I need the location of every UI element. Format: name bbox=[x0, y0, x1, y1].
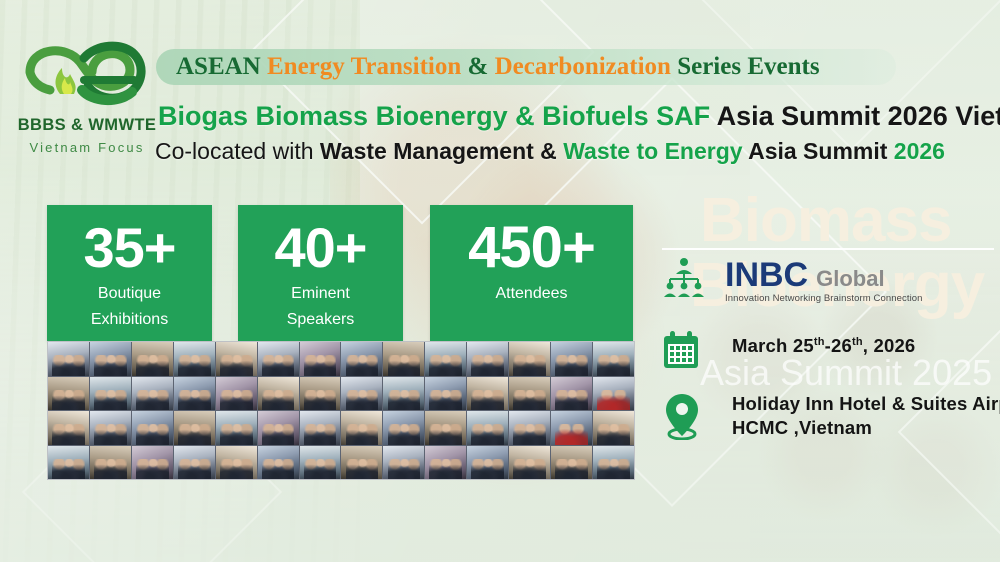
stat-card-exhibitions: 35+ Boutique Exhibitions bbox=[47, 205, 212, 341]
collage-photo bbox=[593, 446, 634, 480]
collage-photo bbox=[383, 411, 424, 445]
subtitle-year: 2026 bbox=[894, 138, 945, 164]
event-venue-row: Holiday Inn Hotel & Suites Airport HCMC … bbox=[662, 392, 1000, 440]
collage-photo bbox=[174, 342, 215, 376]
people-network-icon bbox=[662, 256, 706, 300]
organizer-suffix: Global bbox=[816, 266, 884, 291]
collage-photo bbox=[216, 411, 257, 445]
series-part-amp: & bbox=[468, 53, 495, 80]
collage-photo bbox=[551, 342, 592, 376]
event-venue-text: Holiday Inn Hotel & Suites Airport HCMC … bbox=[732, 392, 1000, 440]
stat-label-line1: Boutique bbox=[47, 281, 212, 307]
stat-label-line2: Exhibitions bbox=[47, 307, 212, 333]
stat-number: 450+ bbox=[430, 205, 633, 281]
organizer-logo: INBCGlobal Innovation Networking Brainst… bbox=[725, 256, 923, 304]
title-green-part: Biogas Biomass Bioenergy & Biofuels SAF bbox=[158, 101, 710, 131]
event-date-row: March 25th-26th, 2026 bbox=[662, 330, 915, 358]
collage-photo bbox=[216, 446, 257, 480]
organizer-name: INBC bbox=[725, 256, 808, 294]
collage-photo bbox=[593, 411, 634, 445]
date-month: March bbox=[732, 335, 793, 356]
stat-label-line1: Attendees bbox=[430, 281, 633, 307]
venue-line1: Holiday Inn Hotel & Suites Airport bbox=[732, 393, 1000, 414]
collage-photo bbox=[300, 446, 341, 480]
organizer-tagline: Innovation Networking Brainstorm Connect… bbox=[725, 293, 923, 304]
page-subtitle: Co-located with Waste Management & Waste… bbox=[155, 136, 945, 166]
subtitle-asia-summit: Asia Summit bbox=[743, 138, 894, 164]
collage-photo bbox=[509, 446, 550, 480]
stat-number: 40+ bbox=[238, 205, 403, 281]
bbbs-wmwte-logo: BBBS & WMWTE Vietnam Focus bbox=[14, 28, 160, 168]
collage-photo bbox=[174, 411, 215, 445]
collage-photo bbox=[300, 342, 341, 376]
date-year: , 2026 bbox=[863, 335, 916, 356]
series-part-series-events: Series Events bbox=[677, 53, 819, 80]
collage-photo bbox=[341, 446, 382, 480]
collage-photo bbox=[467, 342, 508, 376]
collage-photo bbox=[341, 377, 382, 411]
collage-photo bbox=[90, 377, 131, 411]
collage-photo bbox=[425, 377, 466, 411]
stat-card-attendees: 450+ Attendees bbox=[430, 205, 633, 341]
collage-photo bbox=[593, 377, 634, 411]
collage-photo bbox=[258, 411, 299, 445]
date-day-end-sup: th bbox=[852, 336, 863, 348]
calendar-icon bbox=[662, 330, 702, 374]
stat-label-line2: Speakers bbox=[238, 307, 403, 333]
collage-photo bbox=[132, 446, 173, 480]
watermark-biomass: Biomass bbox=[700, 185, 951, 256]
event-banner: BBBS & WMWTE Vietnam Focus ASEAN Energy … bbox=[0, 0, 1000, 562]
stat-card-speakers: 40+ Eminent Speakers bbox=[238, 205, 403, 341]
collage-photo bbox=[300, 411, 341, 445]
series-banner-text: ASEAN Energy Transition & Decarbonizatio… bbox=[176, 52, 820, 82]
collage-photo bbox=[132, 342, 173, 376]
page-title: Biogas Biomass Bioenergy & Biofuels SAF … bbox=[158, 99, 1000, 133]
collage-photo bbox=[509, 342, 550, 376]
logo-subtitle: Vietnam Focus bbox=[14, 140, 160, 155]
collage-photo bbox=[383, 377, 424, 411]
collage-photo bbox=[132, 377, 173, 411]
logo-mark-icon bbox=[22, 28, 152, 114]
collage-photo bbox=[509, 411, 550, 445]
collage-photo bbox=[90, 342, 131, 376]
collage-photo bbox=[258, 342, 299, 376]
collage-photo bbox=[425, 446, 466, 480]
watermark-asia-summit: Asia Summit 2025 bbox=[700, 352, 992, 394]
collage-photo bbox=[467, 446, 508, 480]
collage-photo bbox=[593, 342, 634, 376]
collage-photo bbox=[551, 377, 592, 411]
collage-photo bbox=[341, 411, 382, 445]
collage-photo bbox=[132, 411, 173, 445]
collage-photo bbox=[341, 342, 382, 376]
collage-photo bbox=[90, 446, 131, 480]
venue-line2: HCMC ,Vietnam bbox=[732, 417, 872, 438]
series-part-asean: ASEAN bbox=[176, 53, 267, 80]
date-day-end: 26 bbox=[831, 335, 852, 356]
collage-photo bbox=[258, 377, 299, 411]
date-day-start: 25 bbox=[793, 335, 814, 356]
photo-collage bbox=[47, 341, 635, 480]
collage-photo bbox=[48, 342, 89, 376]
date-day-start-sup: th bbox=[814, 336, 825, 348]
collage-photo bbox=[425, 411, 466, 445]
collage-photo bbox=[551, 446, 592, 480]
collage-photo bbox=[48, 446, 89, 480]
collage-photo bbox=[383, 342, 424, 376]
collage-photo bbox=[216, 377, 257, 411]
collage-photo bbox=[551, 411, 592, 445]
logo-name: BBBS & WMWTE bbox=[14, 116, 160, 135]
collage-photo bbox=[300, 377, 341, 411]
title-black-part: Asia Summit 2026 Vietnam Focus bbox=[710, 101, 1000, 131]
subtitle-waste-management: Waste Management & bbox=[320, 138, 563, 164]
collage-photo bbox=[425, 342, 466, 376]
series-part-decarbonization: Decarbonization bbox=[495, 53, 678, 80]
stat-number: 35+ bbox=[47, 205, 212, 281]
collage-photo bbox=[174, 446, 215, 480]
subtitle-waste-to-energy: Waste to Energy bbox=[563, 138, 742, 164]
collage-photo bbox=[383, 446, 424, 480]
stat-label-line1: Eminent bbox=[238, 281, 403, 307]
collage-photo bbox=[174, 377, 215, 411]
collage-photo bbox=[467, 411, 508, 445]
location-pin-icon bbox=[662, 392, 702, 436]
collage-photo bbox=[509, 377, 550, 411]
series-part-energy-transition: Energy Transition bbox=[267, 53, 468, 80]
collage-photo bbox=[48, 411, 89, 445]
collage-photo bbox=[90, 411, 131, 445]
collage-photo bbox=[48, 377, 89, 411]
divider bbox=[662, 248, 994, 250]
collage-photo bbox=[216, 342, 257, 376]
subtitle-lead: Co-located with bbox=[155, 138, 320, 164]
collage-photo bbox=[258, 446, 299, 480]
event-date-text: March 25th-26th, 2026 bbox=[732, 330, 915, 358]
collage-photo bbox=[467, 377, 508, 411]
